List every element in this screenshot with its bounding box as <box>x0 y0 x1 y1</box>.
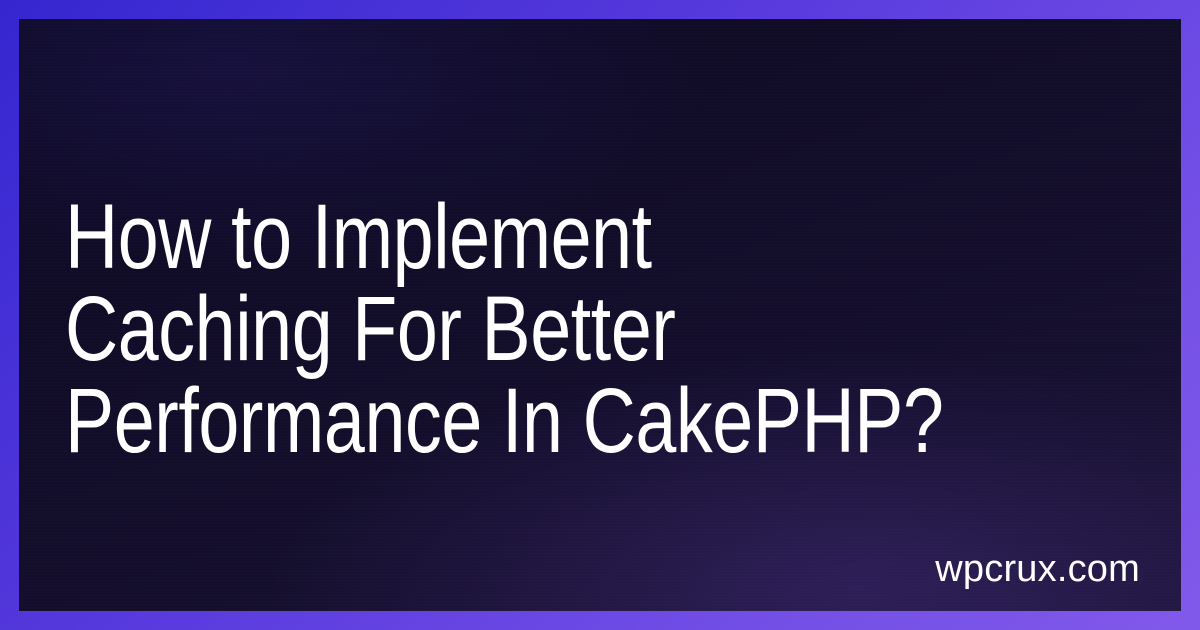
headline-line-1: How to Implement <box>65 191 937 283</box>
card-inner-panel: How to Implement Caching For Better Perf… <box>19 19 1181 611</box>
page-title: How to Implement Caching For Better Perf… <box>65 191 937 467</box>
site-domain-label: wpcrux.com <box>935 549 1140 589</box>
social-share-card: How to Implement Caching For Better Perf… <box>0 0 1200 630</box>
headline-line-2: Caching For Better <box>65 283 937 375</box>
headline-line-3: Performance In CakePHP? <box>65 375 937 467</box>
